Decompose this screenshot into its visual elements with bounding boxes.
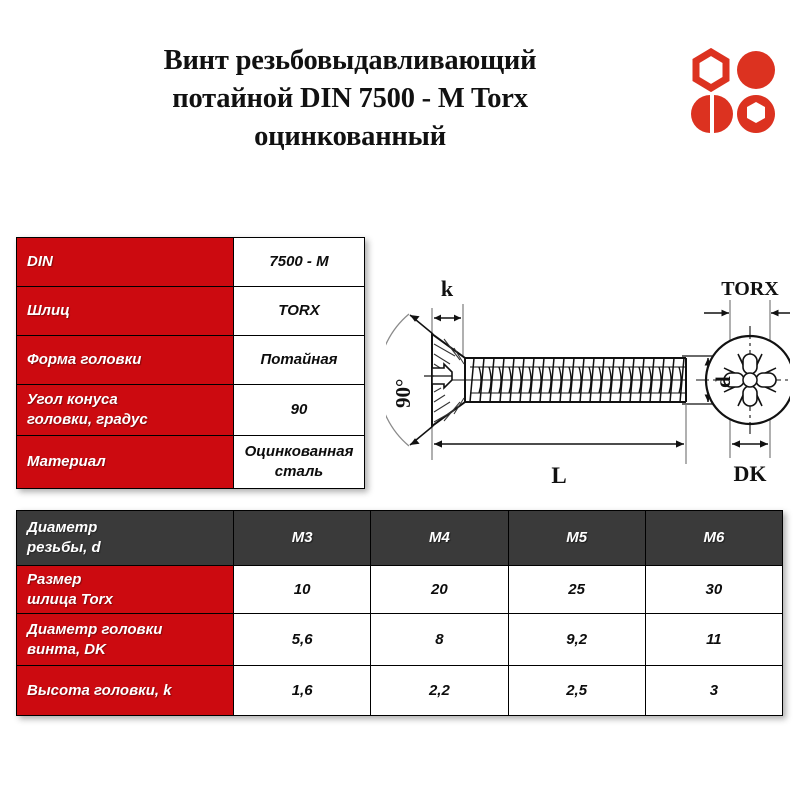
table-row: Материал Оцинкованная сталь <box>17 436 365 489</box>
table-row: Шлиц TORX <box>17 287 365 336</box>
dimensions-table: Диаметр резьбы, d M3 M4 M5 M6 Размер шли… <box>16 510 783 716</box>
dim-value-head-height-m5: 2,5 <box>508 666 645 716</box>
spec-value-material: Оцинкованная сталь <box>234 436 365 489</box>
dim-label-angle: 90° <box>391 379 415 408</box>
table-row: Угол конуса головки, градус 90 <box>17 385 365 436</box>
spec-label-shlits: Шлиц <box>17 287 234 336</box>
dim-value-head-diameter-m5: 9,2 <box>508 614 645 666</box>
dim-value-torx-size-m3: 10 <box>234 566 371 614</box>
dim-value-head-diameter-m3: 5,6 <box>234 614 371 666</box>
dim-row-label-torx-size-line-2: шлица Torx <box>27 590 223 610</box>
table-row: DIN 7500 - M <box>17 238 365 287</box>
dim-value-head-height-m3: 1,6 <box>234 666 371 716</box>
dim-value-torx-size-m6: 30 <box>645 566 782 614</box>
spec-label-cone-angle-line-2: головки, градус <box>27 410 223 430</box>
dim-column-header-m4: M4 <box>371 511 508 566</box>
dim-column-header-m5: M5 <box>508 511 645 566</box>
table-header-row: Диаметр резьбы, d M3 M4 M5 M6 <box>17 511 783 566</box>
spec-value-material-line-2: сталь <box>244 462 354 482</box>
screw-technical-drawing: k 90° d L TORX DK <box>386 268 790 493</box>
dim-label-L: L <box>551 463 566 488</box>
page-title: Винт резьбовыдавливающий потайной DIN 75… <box>60 42 640 156</box>
quartered-disc-icon <box>737 51 775 89</box>
dim-value-torx-size-m4: 20 <box>371 566 508 614</box>
dim-row-label-head-diameter-line-2: винта, DK <box>27 640 223 660</box>
spec-value-material-line-1: Оцинкованная <box>244 442 354 462</box>
fastener-logo <box>690 48 778 136</box>
page-title-line-3: оцинкованный <box>60 118 640 156</box>
dim-label-d: d <box>711 376 735 388</box>
spec-label-material: Материал <box>17 436 234 489</box>
dim-header-thread-diameter-line-1: Диаметр <box>27 518 223 538</box>
table-row: Диаметр головки винта, DK 5,6 8 9,2 11 <box>17 614 783 666</box>
dim-column-header-m3: M3 <box>234 511 371 566</box>
table-row: Форма головки Потайная <box>17 336 365 385</box>
dim-label-dk: DK <box>734 461 767 486</box>
table-row: Размер шлица Torx 10 20 25 30 <box>17 566 783 614</box>
split-disc-icon <box>691 95 733 133</box>
page-title-line-2: потайной DIN 7500 - M Torx <box>60 80 640 118</box>
drawing-svg: k 90° d L TORX DK <box>386 268 790 493</box>
dim-header-thread-diameter-line-2: резьбы, d <box>27 538 223 558</box>
hex-outline-icon <box>696 52 726 88</box>
dim-row-label-torx-size: Размер шлица Torx <box>17 566 234 614</box>
spec-value-shlits: TORX <box>234 287 365 336</box>
dim-row-label-torx-size-line-1: Размер <box>27 570 223 590</box>
spec-value-cone-angle: 90 <box>234 385 365 436</box>
dim-value-head-height-m6: 3 <box>645 666 782 716</box>
dim-row-label-head-diameter: Диаметр головки винта, DK <box>17 614 234 666</box>
dim-label-torx: TORX <box>721 278 779 300</box>
spec-value-head-form: Потайная <box>234 336 365 385</box>
table-row: Высота головки, k 1,6 2,2 2,5 3 <box>17 666 783 716</box>
spec-label-cone-angle: Угол конуса головки, градус <box>17 385 234 436</box>
specification-table: DIN 7500 - M Шлиц TORX Форма головки Пот… <box>16 237 365 489</box>
dim-value-torx-size-m5: 25 <box>508 566 645 614</box>
page-title-line-1: Винт резьбовыдавливающий <box>60 42 640 80</box>
dim-value-head-height-m4: 2,2 <box>371 666 508 716</box>
spec-label-din: DIN <box>17 238 234 287</box>
dim-header-thread-diameter: Диаметр резьбы, d <box>17 511 234 566</box>
spec-label-head-form: Форма головки <box>17 336 234 385</box>
spec-label-cone-angle-line-1: Угол конуса <box>27 390 223 410</box>
spec-value-din: 7500 - M <box>234 238 365 287</box>
dim-value-head-diameter-m4: 8 <box>371 614 508 666</box>
dim-label-k: k <box>441 276 454 301</box>
logo-svg <box>690 48 778 136</box>
dim-value-head-diameter-m6: 11 <box>645 614 782 666</box>
dim-row-label-head-diameter-line-1: Диаметр головки <box>27 620 223 640</box>
dim-column-header-m6: M6 <box>645 511 782 566</box>
disc-with-hex-hole-icon <box>737 95 775 133</box>
dim-row-label-head-height: Высота головки, k <box>17 666 234 716</box>
dim-row-label-head-height-line-1: Высота головки, k <box>27 681 223 701</box>
